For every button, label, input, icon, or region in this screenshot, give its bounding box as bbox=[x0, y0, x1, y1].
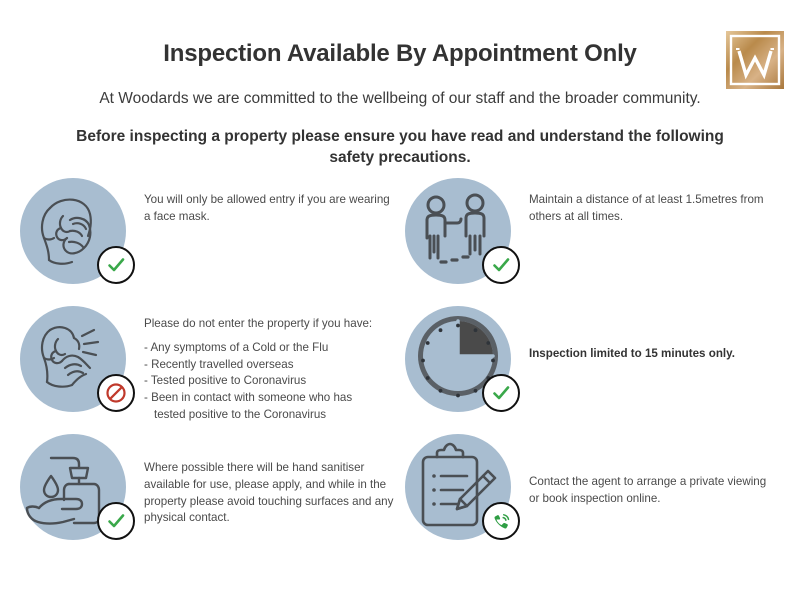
phone-badge bbox=[482, 502, 520, 540]
check-badge bbox=[97, 502, 135, 540]
precaution-item-hand-sanitiser: Where possible there will be hand saniti… bbox=[0, 434, 400, 540]
icon-wrapper bbox=[20, 306, 126, 412]
woodards-logo-icon bbox=[724, 29, 786, 91]
header-lead-instruction: Before inspecting a property please ensu… bbox=[70, 127, 730, 169]
precautions-grid: You will only be allowed entry if you ar… bbox=[0, 178, 800, 562]
safety-precautions-poster: Inspection Available By Appointment Only… bbox=[0, 0, 800, 600]
check-badge bbox=[482, 374, 520, 412]
caption-text: Contact the agent to arrange a private v… bbox=[529, 474, 779, 508]
precautions-row: You will only be allowed entry if you ar… bbox=[0, 178, 800, 306]
check-icon bbox=[490, 254, 512, 276]
check-icon bbox=[105, 254, 127, 276]
list-item: - Been in contact with someone who has bbox=[144, 390, 372, 407]
precaution-caption: You will only be allowed entry if you ar… bbox=[126, 178, 394, 226]
precaution-caption: Contact the agent to arrange a private v… bbox=[511, 434, 779, 508]
page-title: Inspection Available By Appointment Only bbox=[0, 40, 800, 68]
caption-text: Maintain a distance of at least 1.5metre… bbox=[529, 192, 779, 226]
list-item: - Recently travelled overseas bbox=[144, 357, 372, 374]
precaution-item-face-mask: You will only be allowed entry if you ar… bbox=[0, 178, 400, 284]
precaution-item-time-limit: Inspection limited to 15 minutes only. bbox=[400, 306, 800, 412]
list-item: - Any symptoms of a Cold or the Flu bbox=[144, 340, 372, 357]
precaution-item-social-distancing: Maintain a distance of at least 1.5metre… bbox=[400, 178, 800, 284]
prohibited-badge bbox=[97, 374, 135, 412]
phone-icon bbox=[489, 509, 513, 533]
icon-wrapper bbox=[405, 178, 511, 284]
precaution-caption: Inspection limited to 15 minutes only. bbox=[511, 306, 735, 363]
icon-wrapper bbox=[405, 434, 511, 540]
check-badge bbox=[97, 246, 135, 284]
symptom-list: - Any symptoms of a Cold or the Flu - Re… bbox=[144, 340, 372, 424]
prohibited-icon bbox=[104, 381, 128, 405]
header-subtitle: At Woodards we are committed to the well… bbox=[0, 90, 800, 108]
check-badge bbox=[482, 246, 520, 284]
icon-wrapper bbox=[20, 434, 126, 540]
list-item-continuation: tested positive to the Coronavirus bbox=[144, 407, 372, 424]
precautions-row: Where possible there will be hand saniti… bbox=[0, 434, 800, 562]
caption-text: Where possible there will be hand saniti… bbox=[144, 460, 394, 527]
caption-text: Inspection limited to 15 minutes only. bbox=[529, 346, 735, 363]
check-icon bbox=[105, 510, 127, 532]
icon-wrapper bbox=[20, 178, 126, 284]
caption-text: You will only be allowed entry if you ar… bbox=[144, 192, 394, 226]
icon-wrapper bbox=[405, 306, 511, 412]
check-icon bbox=[490, 382, 512, 404]
precautions-row: Please do not enter the property if you … bbox=[0, 306, 800, 434]
precaution-caption: Where possible there will be hand saniti… bbox=[126, 434, 394, 527]
poster-header: Inspection Available By Appointment Only… bbox=[0, 0, 800, 169]
precaution-item-do-not-enter: Please do not enter the property if you … bbox=[0, 306, 400, 424]
precaution-caption: Please do not enter the property if you … bbox=[126, 306, 372, 424]
precaution-caption: Maintain a distance of at least 1.5metre… bbox=[511, 178, 779, 226]
precaution-item-contact-agent: Contact the agent to arrange a private v… bbox=[400, 434, 800, 540]
caption-text: Please do not enter the property if you … bbox=[144, 316, 372, 333]
list-item: - Tested positive to Coronavirus bbox=[144, 373, 372, 390]
woodards-logo bbox=[724, 29, 786, 91]
